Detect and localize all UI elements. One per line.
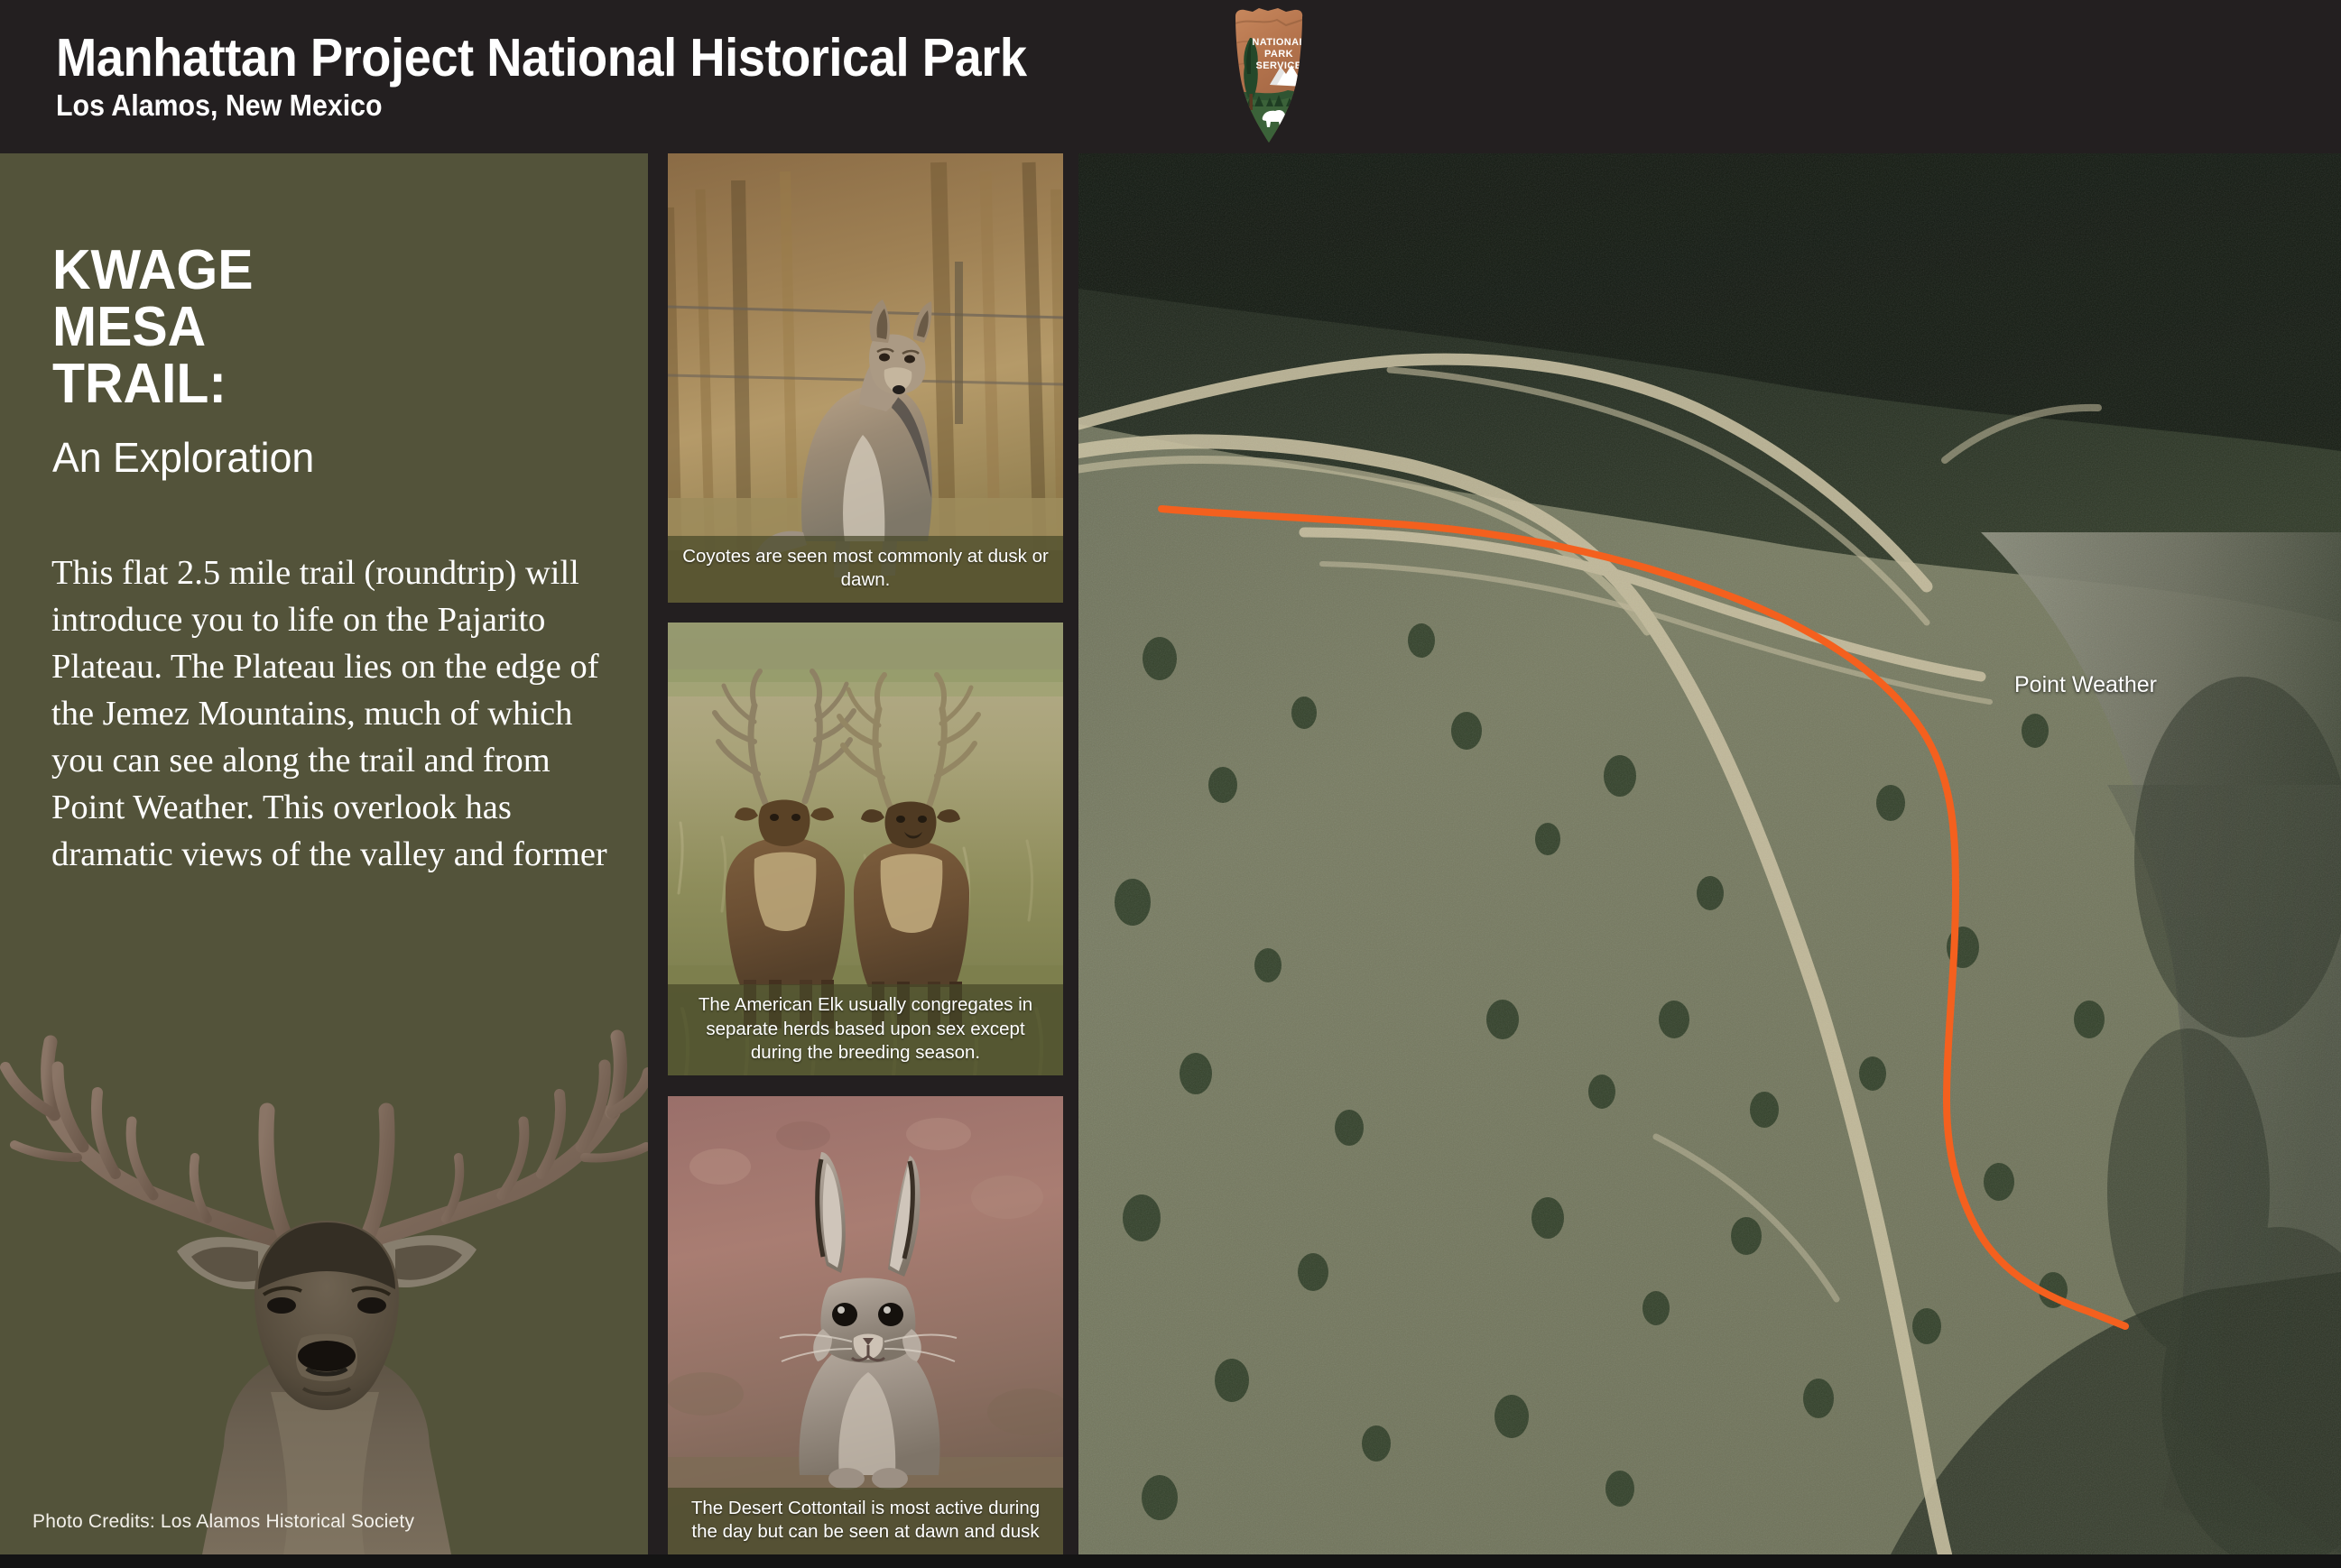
photo-caption: The American Elk usually congregates in … [668, 984, 1063, 1075]
trail-title: KWAGE MESA TRAIL: [52, 242, 254, 413]
trail-subtitle: An Exploration [52, 433, 314, 482]
trail-title-line-3: TRAIL: [52, 355, 254, 412]
desert-cottontail-photo[interactable]: The Desert Cottontail is most active dur… [668, 1096, 1063, 1554]
point-weather-label: Point Weather [2014, 672, 2157, 698]
photo-caption: Coyotes are seen most commonly at dusk o… [668, 536, 1063, 603]
page-subtitle: Los Alamos, New Mexico [56, 88, 383, 123]
wildlife-photo-column: Coyotes are seen most commonly at dusk o… [668, 153, 1063, 1554]
trail-title-line-1: KWAGE [52, 242, 254, 299]
poster-root: Manhattan Project National Historical Pa… [0, 0, 2341, 1568]
intro-panel: KWAGE MESA TRAIL: An Exploration This fl… [0, 153, 648, 1554]
nps-arrowhead-icon: NATIONAL PARK SERVICE [1223, 7, 1313, 144]
aerial-trail-map[interactable] [1078, 153, 2341, 1554]
logo-text-service: SERVICE [1256, 60, 1302, 71]
logo-text-park: PARK [1264, 49, 1293, 60]
page-title: Manhattan Project National Historical Pa… [56, 27, 1027, 88]
photo-credit: Photo Credits: Los Alamos Historical Soc… [32, 1511, 414, 1533]
logo-text-national: NATIONAL [1252, 37, 1305, 48]
elk-photo[interactable]: The American Elk usually congregates in … [668, 623, 1063, 1075]
trail-title-line-2: MESA [52, 299, 254, 355]
poster-header: Manhattan Project National Historical Pa… [0, 0, 2341, 152]
deer-with-antlers-photo [0, 887, 648, 1554]
bottom-strip [0, 1554, 2341, 1568]
photo-caption: The Desert Cottontail is most active dur… [668, 1488, 1063, 1554]
coyote-photo[interactable]: Coyotes are seen most commonly at dusk o… [668, 153, 1063, 603]
